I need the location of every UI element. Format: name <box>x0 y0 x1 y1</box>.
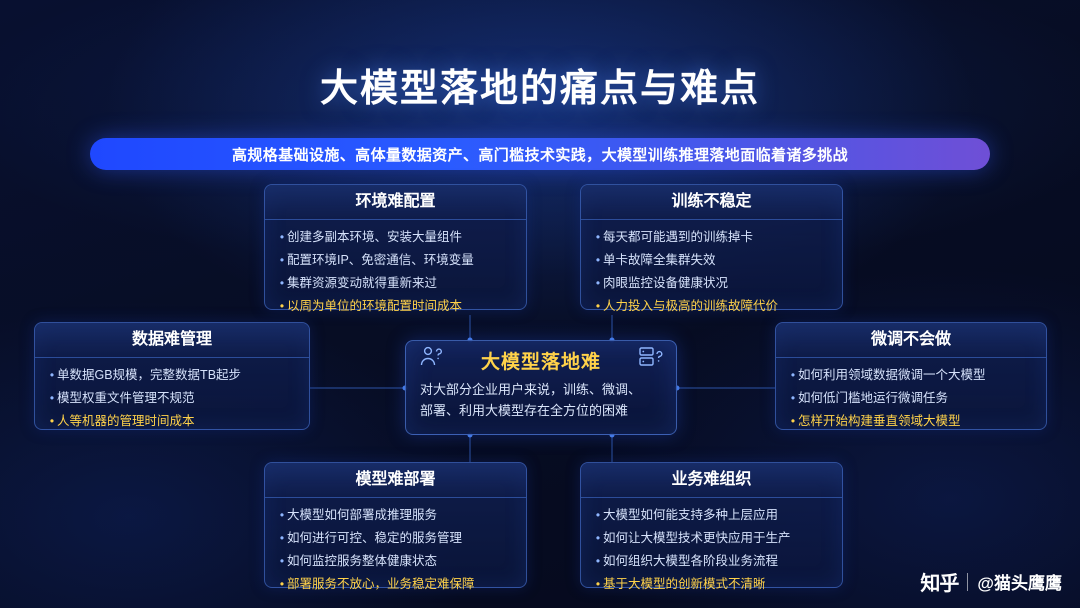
list-item: •肉眼监控设备健康状况 <box>593 275 832 292</box>
bullet-dot: • <box>277 553 287 570</box>
list-item-highlight: •部署服务不放心，业务稳定难保障 <box>277 576 516 593</box>
bullet-dot: • <box>277 229 287 246</box>
card-train-title: 训练不稳定 <box>581 185 842 220</box>
bullet-dot: • <box>277 576 287 593</box>
list-item-text: 肉眼监控设备健康状况 <box>603 275 728 292</box>
list-item: •如何利用领域数据微调一个大模型 <box>788 367 1036 384</box>
card-business-title: 业务难组织 <box>581 463 842 498</box>
list-item-text: 配置环境IP、免密通信、环境变量 <box>287 252 474 269</box>
list-item-text: 大模型如何能支持多种上层应用 <box>603 507 778 524</box>
page-title: 大模型落地的痛点与难点 <box>0 57 1080 112</box>
card-train: 训练不稳定 •每天都可能遇到的训练掉卡 •单卡故障全集群失效 •肉眼监控设备健康… <box>580 184 843 310</box>
watermark: 知乎 @猫头鹰鹰 <box>920 567 1062 596</box>
card-deploy: 模型难部署 •大模型如何部署成推理服务 •如何进行可控、稳定的服务管理 •如何监… <box>264 462 527 588</box>
hub-description: 对大部分企业用户来说，训练、微调、 部署、利用大模型存在全方位的困难 <box>420 379 664 421</box>
list-item-text: 以周为单位的环境配置时间成本 <box>287 298 462 315</box>
bullet-dot: • <box>593 252 603 269</box>
list-item: •配置环境IP、免密通信、环境变量 <box>277 252 516 269</box>
list-item-highlight: •基于大模型的创新模式不清晰 <box>593 576 832 593</box>
bullet-dot: • <box>277 275 287 292</box>
list-item-text: 每天都可能遇到的训练掉卡 <box>603 229 753 246</box>
card-data-title: 数据难管理 <box>35 323 309 358</box>
card-data-body: •单数据GB规模，完整数据TB起步 •模型权重文件管理不规范 •人等机器的管理时… <box>35 358 309 439</box>
list-item: •如何监控服务整体健康状态 <box>277 553 516 570</box>
card-business: 业务难组织 •大模型如何能支持多种上层应用 •如何让大模型技术更快应用于生产 •… <box>580 462 843 588</box>
list-item-text: 单数据GB规模，完整数据TB起步 <box>57 367 241 384</box>
list-item: •模型权重文件管理不规范 <box>47 390 299 407</box>
list-item: •集群资源变动就得重新来过 <box>277 275 516 292</box>
list-item-text: 如何低门槛地运行微调任务 <box>798 390 948 407</box>
bullet-dot: • <box>593 229 603 246</box>
list-item-text: 如何进行可控、稳定的服务管理 <box>287 530 462 547</box>
bullet-dot: • <box>788 390 798 407</box>
card-env-title: 环境难配置 <box>265 185 526 220</box>
bullet-dot: • <box>277 298 287 315</box>
bullet-dot: • <box>47 367 57 384</box>
list-item-text: 如何监控服务整体健康状态 <box>287 553 437 570</box>
list-item: •单卡故障全集群失效 <box>593 252 832 269</box>
bullet-dot: • <box>277 530 287 547</box>
bullet-dot: • <box>47 413 57 430</box>
list-item: •如何进行可控、稳定的服务管理 <box>277 530 516 547</box>
card-env: 环境难配置 •创建多副本环境、安装大量组件 •配置环境IP、免密通信、环境变量 … <box>264 184 527 310</box>
list-item: •如何组织大模型各阶段业务流程 <box>593 553 832 570</box>
bullet-dot: • <box>277 252 287 269</box>
card-finetune-body: •如何利用领域数据微调一个大模型 •如何低门槛地运行微调任务 •怎样开始构建垂直… <box>776 358 1046 439</box>
card-finetune-title: 微调不会做 <box>776 323 1046 358</box>
list-item-text: 如何让大模型技术更快应用于生产 <box>603 530 791 547</box>
bullet-dot: • <box>593 576 603 593</box>
list-item: •如何低门槛地运行微调任务 <box>788 390 1036 407</box>
bullet-dot: • <box>593 530 603 547</box>
bullet-dot: • <box>788 367 798 384</box>
bullet-dot: • <box>788 413 798 430</box>
list-item-highlight: •以周为单位的环境配置时间成本 <box>277 298 516 315</box>
list-item-text: 大模型如何部署成推理服务 <box>287 507 437 524</box>
bullet-dot: • <box>593 275 603 292</box>
list-item-text: 模型权重文件管理不规范 <box>57 390 195 407</box>
card-env-body: •创建多副本环境、安装大量组件 •配置环境IP、免密通信、环境变量 •集群资源变… <box>265 220 526 324</box>
hub-title: 大模型落地难 <box>406 347 676 374</box>
card-deploy-body: •大模型如何部署成推理服务 •如何进行可控、稳定的服务管理 •如何监控服务整体健… <box>265 498 526 602</box>
list-item-highlight: •人力投入与极高的训练故障代价 <box>593 298 832 315</box>
card-finetune: 微调不会做 •如何利用领域数据微调一个大模型 •如何低门槛地运行微调任务 •怎样… <box>775 322 1047 430</box>
list-item-text: 基于大模型的创新模式不清晰 <box>603 576 766 593</box>
zhihu-logo: 知乎 <box>920 567 958 596</box>
bullet-dot: • <box>593 507 603 524</box>
list-item-text: 部署服务不放心，业务稳定难保障 <box>287 576 475 593</box>
list-item: •每天都可能遇到的训练掉卡 <box>593 229 832 246</box>
slide-canvas: 大模型落地的痛点与难点 高规格基础设施、高体量数据资产、高门槛技术实践，大模型训… <box>0 0 1080 608</box>
list-item-text: 如何组织大模型各阶段业务流程 <box>603 553 778 570</box>
card-business-body: •大模型如何能支持多种上层应用 •如何让大模型技术更快应用于生产 •如何组织大模… <box>581 498 842 602</box>
list-item-text: 集群资源变动就得重新来过 <box>287 275 437 292</box>
list-item: •单数据GB规模，完整数据TB起步 <box>47 367 299 384</box>
card-deploy-title: 模型难部署 <box>265 463 526 498</box>
watermark-divider <box>967 573 968 591</box>
list-item-text: 人力投入与极高的训练故障代价 <box>603 298 778 315</box>
bullet-dot: • <box>593 553 603 570</box>
hub-description-line-1: 对大部分企业用户来说，训练、微调、 <box>420 379 664 400</box>
watermark-author: @猫头鹰鹰 <box>977 569 1062 594</box>
subtitle-banner: 高规格基础设施、高体量数据资产、高门槛技术实践，大模型训练推理落地面临着诸多挑战 <box>90 138 990 170</box>
list-item-text: 单卡故障全集群失效 <box>603 252 716 269</box>
card-train-body: •每天都可能遇到的训练掉卡 •单卡故障全集群失效 •肉眼监控设备健康状况 •人力… <box>581 220 842 324</box>
bullet-dot: • <box>47 390 57 407</box>
hub-description-line-2: 部署、利用大模型存在全方位的困难 <box>420 400 664 421</box>
list-item-text: 创建多副本环境、安装大量组件 <box>287 229 462 246</box>
list-item: •创建多副本环境、安装大量组件 <box>277 229 516 246</box>
list-item-highlight: •人等机器的管理时间成本 <box>47 413 299 430</box>
bullet-dot: • <box>593 298 603 315</box>
list-item: •如何让大模型技术更快应用于生产 <box>593 530 832 547</box>
subtitle-text: 高规格基础设施、高体量数据资产、高门槛技术实践，大模型训练推理落地面临着诸多挑战 <box>232 144 848 165</box>
list-item-text: 怎样开始构建垂直领域大模型 <box>798 413 961 430</box>
card-data: 数据难管理 •单数据GB规模，完整数据TB起步 •模型权重文件管理不规范 •人等… <box>34 322 310 430</box>
center-hub: 大模型落地难 对大部分企业用户来说，训练、微调、 部署、利用大模型存在全方位的困… <box>405 340 677 435</box>
list-item-highlight: •怎样开始构建垂直领域大模型 <box>788 413 1036 430</box>
bullet-dot: • <box>277 507 287 524</box>
list-item: •大模型如何能支持多种上层应用 <box>593 507 832 524</box>
list-item: •大模型如何部署成推理服务 <box>277 507 516 524</box>
list-item-text: 人等机器的管理时间成本 <box>57 413 195 430</box>
list-item-text: 如何利用领域数据微调一个大模型 <box>798 367 986 384</box>
